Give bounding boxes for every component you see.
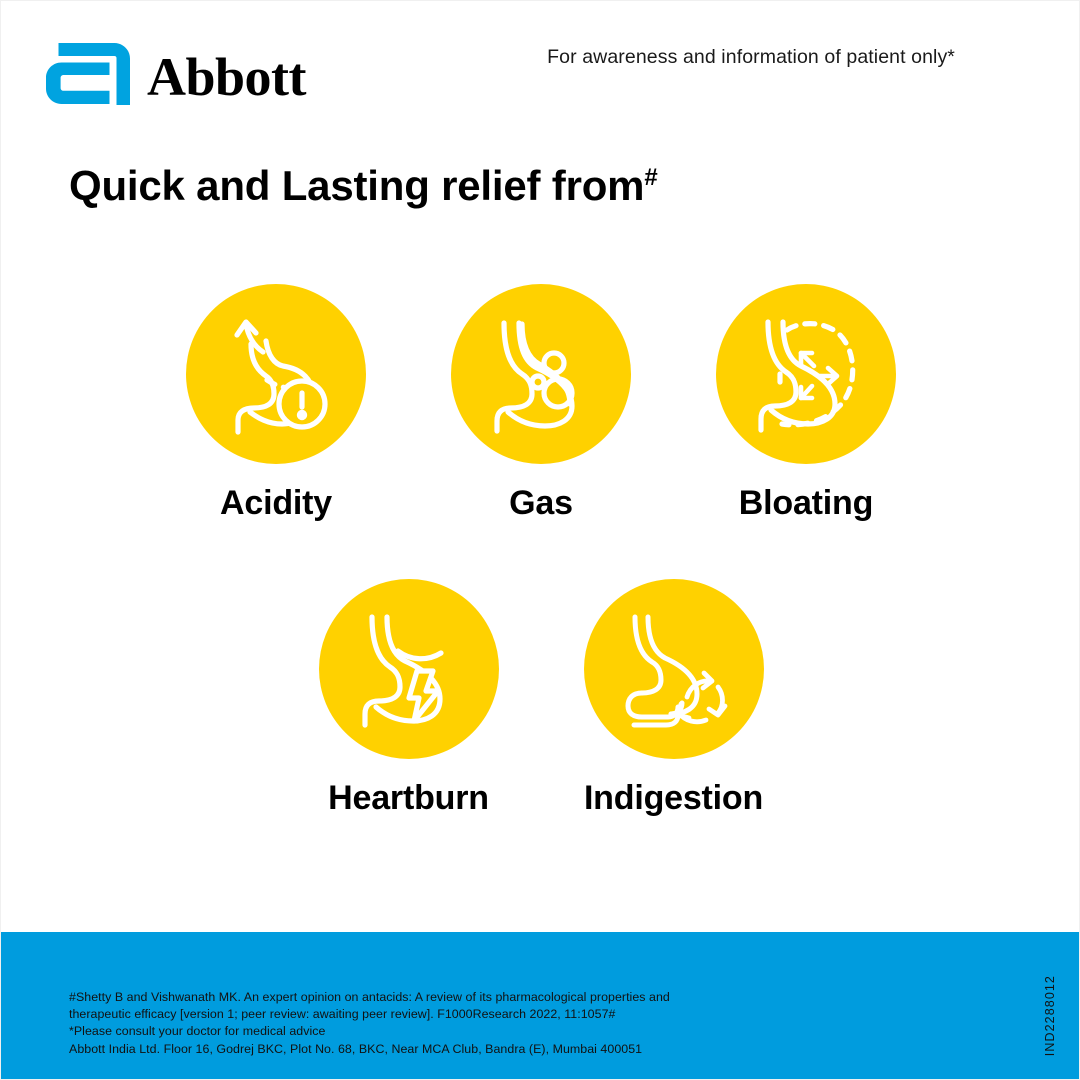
ad-creative-page: Abbott For awareness and information of … bbox=[0, 0, 1080, 1080]
footer-line-2: therapeutic efficacy [version 1; peer re… bbox=[69, 1006, 670, 1023]
symptom-disc-gas bbox=[451, 284, 631, 464]
footer-references: #Shetty B and Vishwanath MK. An expert o… bbox=[69, 989, 670, 1058]
approval-code: IND2288012 bbox=[1043, 975, 1057, 1056]
awareness-disclaimer: For awareness and information of patient… bbox=[547, 46, 955, 69]
symptom-card-gas: Gas bbox=[451, 284, 631, 523]
stomach-gas-bubbles-icon bbox=[475, 308, 607, 440]
stomach-lightning-bolt-icon bbox=[343, 603, 475, 735]
abbott-brand-lockup: Abbott bbox=[46, 43, 306, 110]
symptom-disc-bloating bbox=[716, 284, 896, 464]
symptom-label-indigestion: Indigestion bbox=[584, 779, 763, 818]
symptom-row-1: Acidity Gas bbox=[1, 284, 1080, 523]
page-title-superscript: # bbox=[644, 164, 657, 191]
footer-line-4: Abbott India Ltd. Floor 16, Godrej BKC, … bbox=[69, 1041, 670, 1058]
symptom-disc-indigestion bbox=[584, 579, 764, 759]
abbott-a-logo-icon bbox=[46, 43, 130, 110]
page-title-text: Quick and Lasting relief from bbox=[69, 162, 644, 209]
stomach-intestine-cycle-arrows-icon bbox=[608, 603, 740, 735]
symptom-card-acidity: Acidity bbox=[186, 284, 366, 523]
abbott-wordmark: Abbott bbox=[147, 50, 306, 104]
page-title: Quick and Lasting relief from# bbox=[69, 162, 657, 210]
stomach-bloating-expand-arrows-icon bbox=[740, 308, 872, 440]
symptom-disc-heartburn bbox=[319, 579, 499, 759]
footer-band: #Shetty B and Vishwanath MK. An expert o… bbox=[1, 932, 1080, 1079]
symptom-card-indigestion: Indigestion bbox=[584, 579, 764, 818]
symptom-label-bloating: Bloating bbox=[739, 484, 873, 523]
stomach-acid-reflux-arrow-icon bbox=[210, 308, 342, 440]
footer-line-3: *Please consult your doctor for medical … bbox=[69, 1023, 670, 1040]
symptom-label-heartburn: Heartburn bbox=[328, 779, 489, 818]
footer-line-1: #Shetty B and Vishwanath MK. An expert o… bbox=[69, 989, 670, 1006]
symptom-grid: Acidity Gas bbox=[1, 284, 1080, 818]
symptom-row-2: Heartburn bbox=[1, 579, 1080, 818]
symptom-disc-acidity bbox=[186, 284, 366, 464]
symptom-card-heartburn: Heartburn bbox=[319, 579, 499, 818]
symptom-card-bloating: Bloating bbox=[716, 284, 896, 523]
symptom-label-gas: Gas bbox=[509, 484, 573, 523]
symptom-label-acidity: Acidity bbox=[220, 484, 332, 523]
